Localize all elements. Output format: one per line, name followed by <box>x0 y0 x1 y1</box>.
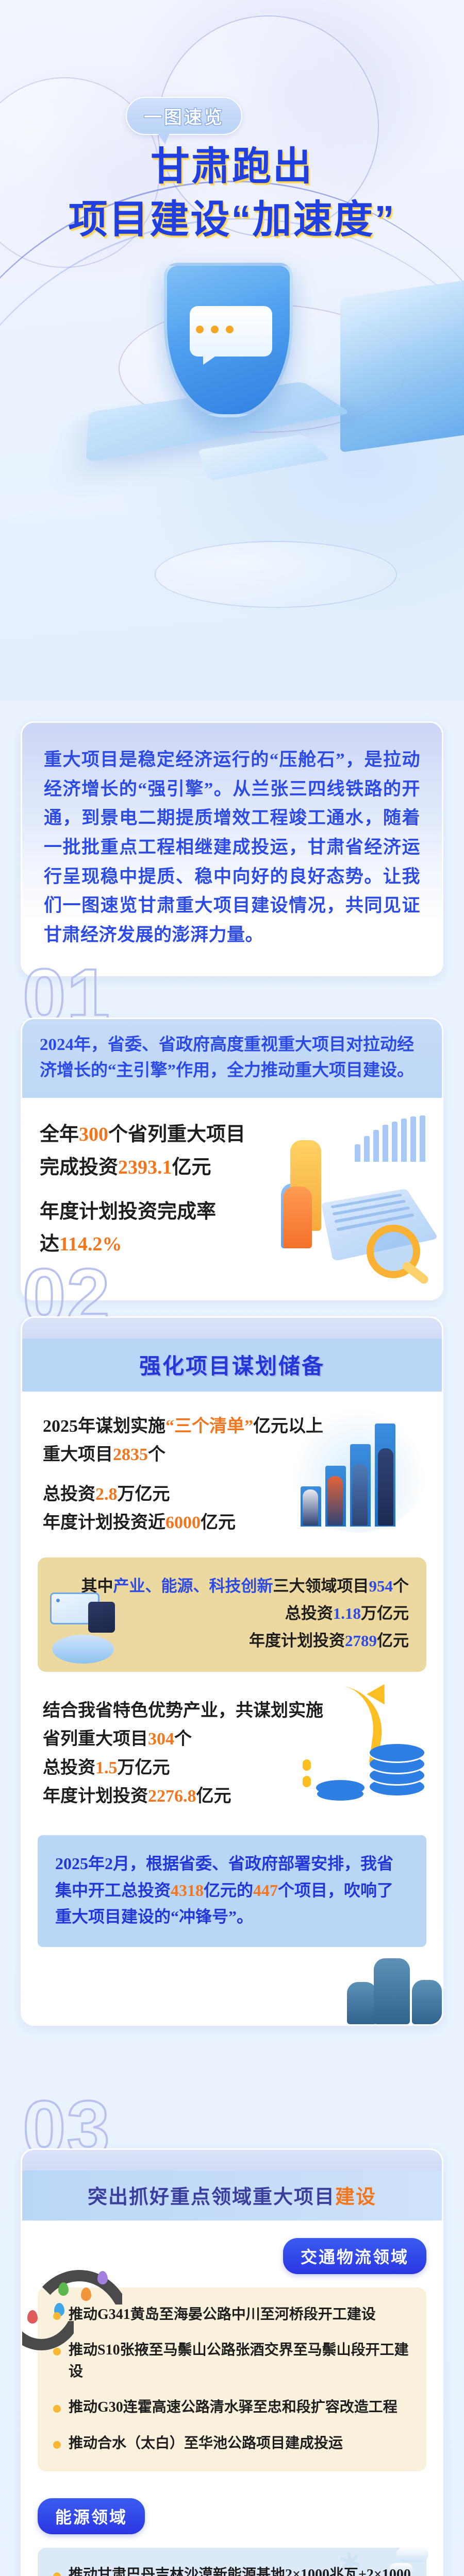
stat-part: 个 <box>393 1577 409 1595</box>
dotted-trail-icon <box>303 1759 311 1792</box>
stat-part: 总投资 <box>43 1485 95 1504</box>
tablet-icon <box>88 1602 115 1633</box>
stat-value: 2835 <box>113 1445 148 1464</box>
section-03-title-highlight: 建设 <box>335 2187 376 2208</box>
hero-plate-small <box>198 434 330 481</box>
person-figure <box>303 1489 318 1526</box>
intro-paragraph: 重大项目是稳定经济运行的“压舱石”，是拉动经济增长的“强引擎”。从兰张三四线铁路… <box>44 745 420 950</box>
person-figure <box>378 1448 393 1526</box>
list-item-text: 推动合水（太白）至华池公路项目建成投运 <box>69 2435 343 2451</box>
stat-value: 304 <box>148 1730 174 1749</box>
list-item: 推动G30连霍高速公路清水驿至忠和段扩容改造工程 <box>53 2397 411 2418</box>
stat-part: 年度计划投资 <box>43 1787 148 1806</box>
person-figure <box>327 1476 343 1526</box>
stat-value: 1.18 <box>333 1604 361 1622</box>
stat-part: 万亿元 <box>118 1758 170 1777</box>
person-figure <box>352 1464 368 1526</box>
page-title-line1: 甘肃跑出 <box>0 143 464 191</box>
field-energy: 能源领域 推动甘肃巴丹吉林沙漠新能源基地2×1000兆瓦+2×1000兆瓦煤电项… <box>22 2481 442 2576</box>
list-item-text: 推动G341黄岛至海晏公路中川至河桥段开工建设 <box>69 2307 376 2323</box>
list-item: 推动G341黄岛至海晏公路中川至河桥段开工建设 <box>53 2304 411 2325</box>
stat-part: 个 <box>174 1730 192 1749</box>
section-02-card: 强化项目谋划储备 2025年谋划实施“三个清单”亿元以上 重大项目2835个 <box>21 1316 443 2026</box>
stat-value: 447 <box>253 1881 278 1900</box>
section-02-block-3: 结合我省特色优势产业，共谋划实施 省列重大项目304个 总投资1.5万亿元 年度… <box>22 1676 442 1825</box>
section-02-title: 强化项目谋划储备 <box>22 1338 442 1392</box>
stat-value: 4318 <box>171 1881 204 1900</box>
stat-value: 2276.8 <box>148 1787 196 1806</box>
money-growth-illustration <box>295 1685 424 1804</box>
tech-innovation-illustration <box>47 1587 124 1665</box>
field-list-transport: 推动G341黄岛至海晏公路中川至河桥段开工建设 推动S10张掖至马鬃山公路张酒交… <box>38 2287 426 2471</box>
kpi-suffix: 个省列重大项目 <box>108 1124 245 1145</box>
road-illustration <box>25 2249 144 2347</box>
section-02-block-2: 其中产业、能源、科技创新三大领域项目954个 总投资1.18万亿元 年度计划投资… <box>38 1557 426 1672</box>
cloud-icon <box>396 2547 428 2562</box>
map-pin-icon <box>81 2287 91 2301</box>
kpi-prefix: 年度计划投资完成率 <box>40 1201 216 1223</box>
list-item: 推动S10张掖至马鬃山公路张酒交界至马鬃山段开工建设 <box>53 2340 411 2382</box>
section-02-block-4: 2025年2月，根据省委、省政府部署安排，我省集中开工总投资4318亿元的447… <box>38 1835 426 1947</box>
stat-highlight: “三个清单” <box>165 1417 253 1436</box>
bullet-dot-icon <box>53 2405 61 2413</box>
bar-3d <box>283 1187 312 1248</box>
stat-part: 个 <box>148 1445 165 1464</box>
stat-value: 1.5 <box>95 1758 118 1777</box>
map-pin-icon <box>58 2282 69 2296</box>
section-03-title: 突出抓好重点领域重大项目建设 <box>22 2171 442 2221</box>
stat-part: 亿元 <box>196 1787 231 1806</box>
bullet-dot-icon <box>53 2348 61 2355</box>
chart-magnifier-illustration <box>258 1108 428 1278</box>
infographic-page: 一图速览 甘肃跑出 项目建设“加速度” 重大项目是稳定经济运行的“压舱石”，是拉… <box>0 0 464 2576</box>
stat-value: 2.8 <box>95 1485 118 1504</box>
field-transport: 交通物流领域 推动G341黄岛至海晏公路中川至河桥段开工建设 推动S10张掖至马… <box>22 2221 442 2481</box>
list-item-text: 推动甘肃巴丹吉林沙漠新能源基地2×1000兆瓦+2×1000兆瓦煤电项目开工建设 <box>69 2567 411 2576</box>
stat-value: 2789 <box>345 1632 377 1650</box>
kpi-prefix: 全年 <box>40 1124 79 1145</box>
map-pin-icon <box>27 2310 38 2324</box>
fist-icon <box>347 1982 377 2024</box>
list-item: 推动甘肃巴丹吉林沙漠新能源基地2×1000兆瓦+2×1000兆瓦煤电项目开工建设 <box>53 2564 411 2576</box>
bullet-dot-icon <box>53 2572 61 2576</box>
decorative-ring <box>155 541 397 608</box>
hero-section: 一图速览 甘肃跑出 项目建设“加速度” <box>0 0 464 701</box>
stat-part: 三大领域项目 <box>273 1577 369 1595</box>
intro-card: 重大项目是稳定经济运行的“压舱石”，是拉动经济增长的“强引擎”。从兰张三四线铁路… <box>21 721 443 976</box>
stat-part: 年度计划投资 <box>249 1632 345 1650</box>
mini-bar-chart-icon <box>355 1115 425 1162</box>
fist-icon <box>374 1958 410 2024</box>
section-02-band <box>22 1318 442 1338</box>
map-pin-icon <box>97 2271 108 2284</box>
quick-look-badge-label: 一图速览 <box>144 103 224 129</box>
field-label-row: 能源领域 <box>38 2498 426 2534</box>
stat-part: 总投资 <box>285 1604 333 1622</box>
quick-look-badge: 一图速览 <box>126 97 242 135</box>
field-label-energy: 能源领域 <box>38 2498 145 2534</box>
kpi-value: 2393.1 <box>118 1157 172 1178</box>
list-item-text: 推动G30连霍高速公路清水驿至忠和段扩容改造工程 <box>69 2399 397 2415</box>
list-item: 推动合水（太白）至华池公路项目建成投运 <box>53 2433 411 2454</box>
section-02-block-1: 2025年谋划实施“三个清单”亿元以上 重大项目2835个 总投资2.8万亿元 … <box>22 1392 442 1552</box>
coin-stack-icon <box>370 1733 424 1795</box>
section-03-title-main: 突出抓好重点领域重大项目 <box>88 2187 335 2208</box>
kpi-prefix: 完成投资 <box>40 1157 118 1178</box>
stat-text: 2025年2月，根据省委、省政府部署安排，我省集中开工总投资4318亿元的447… <box>55 1851 409 1930</box>
list-item-text: 推动S10张掖至马鬃山公路张酒交界至马鬃山段开工建设 <box>69 2342 409 2379</box>
stat-part: 亿元 <box>201 1513 236 1532</box>
stat-part: 重大项目 <box>43 1445 113 1464</box>
section-03-band <box>22 2150 442 2171</box>
stat-part: 亿元 <box>377 1632 409 1650</box>
field-label-transport: 交通物流领域 <box>283 2238 426 2274</box>
stat-part: 万亿元 <box>361 1604 409 1622</box>
chat-dots-icon <box>196 326 234 333</box>
section-03-card: 突出抓好重点领域重大项目建设 交通物流领域 推动G341黄岛至海晏公路中川至河桥… <box>21 2148 443 2576</box>
page-title: 甘肃跑出 项目建设“加速度” <box>0 143 464 244</box>
raised-fists-illustration <box>38 1947 426 2024</box>
stat-part: 省列重大项目 <box>43 1730 148 1749</box>
stat-part: 总投资 <box>43 1758 95 1777</box>
kpi-suffix: 亿元 <box>172 1157 211 1178</box>
kpi-value: 300 <box>79 1124 108 1145</box>
stat-value: 6000 <box>165 1513 201 1532</box>
hero-illustration <box>77 242 387 531</box>
section-01-lead: 2024年，省委、省政府高度重视重大项目对拉动经济增长的“主引擎”作用，全力推动… <box>22 1019 442 1098</box>
bullet-dot-icon <box>53 2441 61 2449</box>
bullet-dot-icon <box>53 2312 61 2320</box>
coin-icon <box>316 1780 364 1795</box>
page-title-line2: 项目建设“加速度” <box>0 196 464 244</box>
platform-icon <box>52 1635 114 1664</box>
stat-part: 年度计划投资近 <box>43 1513 165 1532</box>
stat-part: 万亿元 <box>118 1485 170 1504</box>
stat-part: 2025年谋划实施 <box>43 1417 165 1436</box>
magnifier-icon <box>367 1225 420 1278</box>
team-growth-illustration <box>287 1404 426 1533</box>
stat-part: 亿元的 <box>204 1881 253 1900</box>
stat-highlight: 产业、能源、科技创新 <box>113 1577 273 1595</box>
fist-icon <box>412 1980 442 2024</box>
stat-value: 954 <box>369 1577 393 1595</box>
